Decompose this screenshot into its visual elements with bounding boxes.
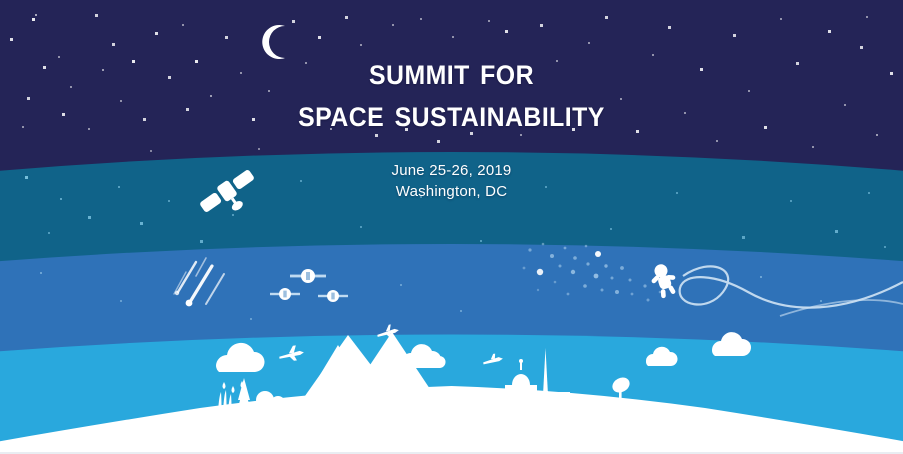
space-sustainability-banner: Summit for Space Sustainability June 25-… [0,0,903,454]
earth-layer [0,0,903,454]
mountain-range-icon [300,332,436,403]
washington-monument-icon [543,348,548,395]
